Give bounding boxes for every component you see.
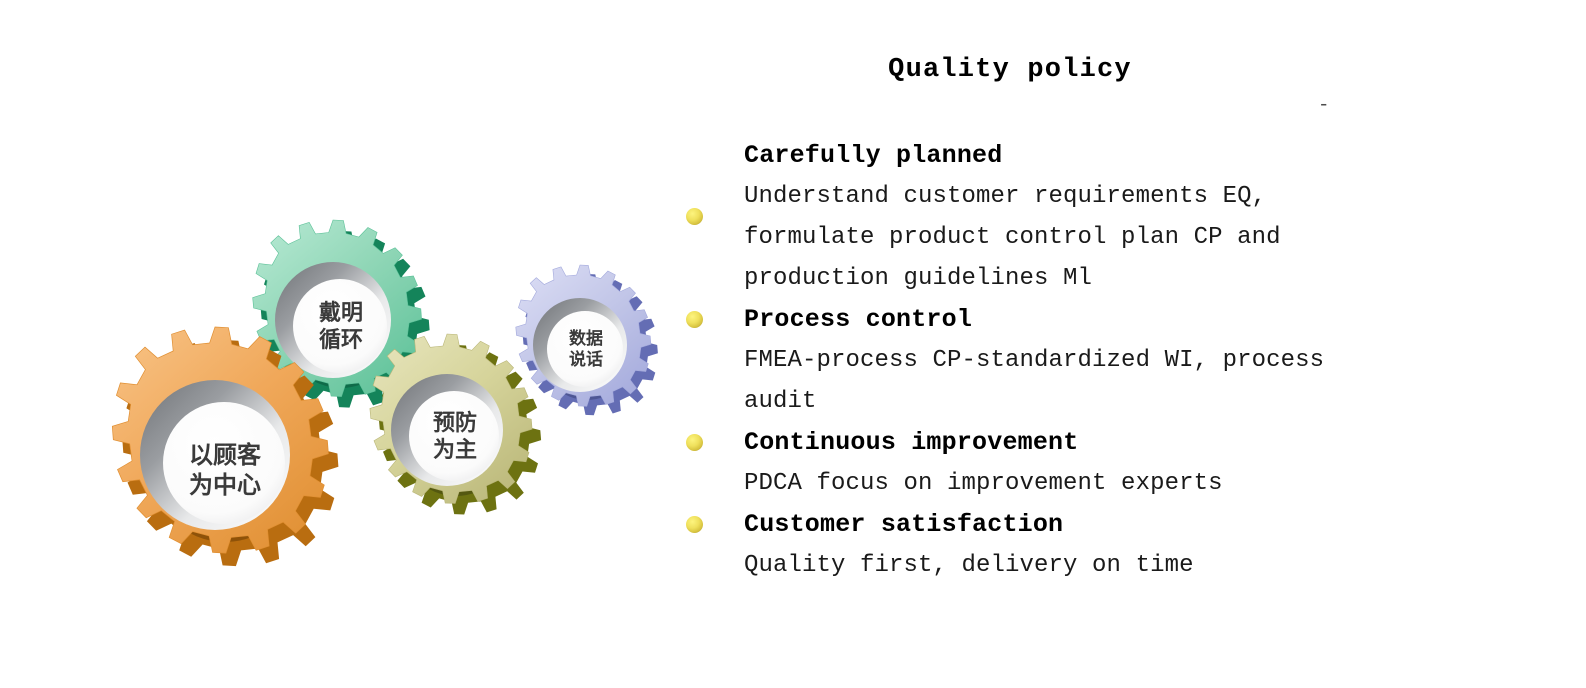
policy-body: FMEA-process CP-standardized WI, process…	[686, 340, 1446, 422]
policy-item: Customer satisfaction Quality first, del…	[686, 504, 1446, 586]
gear-label-customer-line1: 以顾客	[189, 441, 262, 469]
policy-body-line: production guidelines Ml	[744, 258, 1446, 299]
bullet-dot-icon	[686, 311, 703, 328]
quality-gears-illustration: 数据 说话 戴明 循环	[75, 205, 685, 615]
gear-label-prevention-line2: 为主	[433, 438, 477, 463]
quality-policy-list: Carefully planned Understand customer re…	[686, 135, 1446, 586]
gear-label-deming-line1: 戴明	[319, 301, 363, 326]
policy-item: Carefully planned Understand customer re…	[686, 135, 1446, 299]
policy-heading: Customer satisfaction	[686, 504, 1446, 545]
policy-body-line: Understand customer requirements EQ,	[744, 176, 1446, 217]
page-title: Quality policy	[700, 55, 1320, 85]
policy-body-line: PDCA focus on improvement experts	[744, 463, 1446, 504]
gear-label-customer-line2: 为中心	[189, 471, 261, 499]
policy-body-line: formulate product control plan CP and	[744, 217, 1446, 258]
gear-data-speaks: 数据 说话	[516, 265, 658, 415]
policy-heading: Carefully planned	[686, 135, 1446, 176]
gear-prevention-first: 预防 为主	[370, 334, 541, 515]
policy-body: Quality first, delivery on time	[686, 545, 1446, 586]
policy-body: PDCA focus on improvement experts	[686, 463, 1446, 504]
gear-label-data-speaks-line1: 数据	[569, 328, 603, 349]
stray-dash-mark: -	[1318, 96, 1329, 115]
gear-label-prevention-line1: 预防	[433, 411, 477, 436]
policy-body-line: FMEA-process CP-standardized WI, process	[744, 340, 1446, 381]
policy-item: Process control FMEA-process CP-standard…	[686, 299, 1446, 422]
policy-item: Continuous improvement PDCA focus on imp…	[686, 422, 1446, 504]
bullet-dot-icon	[686, 516, 703, 533]
policy-body-line: audit	[744, 381, 1446, 422]
gear-label-deming-line2: 循环	[319, 327, 363, 353]
policy-heading: Continuous improvement	[686, 422, 1446, 463]
policy-body-line: Quality first, delivery on time	[744, 545, 1446, 586]
policy-heading: Process control	[686, 299, 1446, 340]
bullet-dot-icon	[686, 434, 703, 451]
policy-body: Understand customer requirements EQ, for…	[686, 176, 1446, 299]
slide-canvas: Quality policy -	[0, 0, 1586, 688]
gear-label-data-speaks-line2: 说话	[569, 349, 603, 370]
bullet-dot-icon	[686, 208, 703, 225]
